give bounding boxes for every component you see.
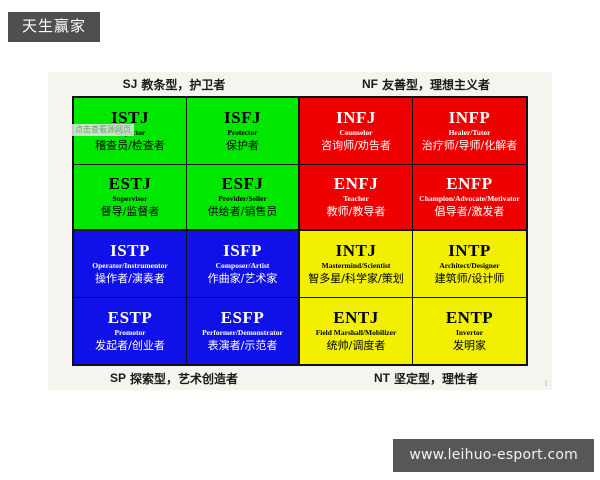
mbti-chinese-role: 建筑师/设计师 [435,273,505,285]
mbti-chinese-role: 督导/监督者 [101,206,160,218]
mbti-chinese-role: 智多星/科学家/策划 [308,273,403,285]
mbti-cell-isfj[interactable]: ISFJ Protector 保护者 [187,98,300,165]
quadrant-tag-sj: SJ [123,77,138,91]
mbti-chinese-role: 发明家 [453,340,486,352]
quadrant-label-nf: NF 友善型，理想主义者 [300,72,552,96]
mbti-cell-enfj[interactable]: ENFJ Teacher 教师/教导者 [300,165,413,232]
mbti-chart-figure: SJ 教条型，护卫者 NF 友善型，理想主义者 点击查看源网页 ISTJ Ins… [48,72,552,390]
mbti-cell-entj[interactable]: ENTJ Field Marshall/Mobilizer 统帅/调度者 [300,298,413,365]
mbti-english-role: Counselor [340,129,373,137]
quadrant-label-sp: SP 探索型，艺术创造者 [48,366,300,390]
quadrant-tag-nt: NT [374,371,390,385]
mbti-english-role: Healer/Tutor [449,129,491,137]
mbti-cell-istp[interactable]: ISTP Operator/Instrumentor 操作者/演奏者 [74,231,187,298]
quadrant-text-nf: 友善型，理想主义者 [382,76,490,93]
mbti-english-role: Performer/Demonstrator [202,329,283,337]
mbti-chinese-role: 保护者 [226,140,259,152]
source-page-hint[interactable]: 点击查看源网页 [72,124,134,136]
mbti-cell-infp[interactable]: INFP Healer/Tutor 治疗师/导师/化解者 [413,98,526,165]
quadrant-tag-nf: NF [362,77,378,91]
mbti-chinese-role: 作曲家/艺术家 [208,273,278,285]
mbti-cell-entp[interactable]: ENTP Invertor 发明家 [413,298,526,365]
mbti-code: ISTP [110,242,150,260]
mbti-code: ENTP [446,309,493,327]
quadrant-label-nt: NT 坚定型，理性者 [300,366,552,390]
mbti-chinese-role: 操作者/演奏者 [95,273,165,285]
mbti-code: ENFP [446,175,492,193]
mbti-code: ISFJ [224,109,261,127]
mbti-english-role: Operator/Instrumentor [92,262,167,270]
mbti-cell-enfp[interactable]: ENFP Champion/Advocate/Motivator 倡导者/激发者 [413,165,526,232]
mbti-chinese-role: 发起者/创业者 [95,340,165,352]
mbti-chinese-role: 统帅/调度者 [327,340,386,352]
mbti-english-role: Architect/Designer [439,262,499,270]
mbti-english-role: Supervisor [112,195,147,203]
site-watermark: www.leihuo-esport.com [393,439,594,472]
mbti-cell-infj[interactable]: INFJ Counselor 咨询师/劝告者 [300,98,413,165]
page-number-mark: 1 [544,379,548,388]
mbti-code: ESTP [108,309,153,327]
mbti-code: INTJ [336,242,377,260]
mbti-cell-estj[interactable]: ESTJ Supervisor 督导/监督者 [74,165,187,232]
mbti-cell-isfp[interactable]: ISFP Composer/Artist 作曲家/艺术家 [187,231,300,298]
mbti-code: ESFJ [222,175,264,193]
mbti-code: ENTJ [333,309,378,327]
mbti-english-role: Composer/Artist [216,262,270,270]
mbti-english-role: Promotor [114,329,145,337]
quadrant-text-sp: 探索型，艺术创造者 [130,370,238,387]
quadrant-text-nt: 坚定型，理性者 [394,370,478,387]
mbti-english-role: Provider/Seller [218,195,267,203]
mbti-code: ESTJ [109,175,152,193]
mbti-cell-estp[interactable]: ESTP Promotor 发起者/创业者 [74,298,187,365]
mbti-chinese-role: 咨询师/劝告者 [321,140,391,152]
mbti-code: ENFJ [334,175,379,193]
mbti-english-role: Champion/Advocate/Motivator [419,195,519,203]
mbti-chinese-role: 供给者/销售员 [208,206,278,218]
mbti-chinese-role: 倡导者/激发者 [435,206,505,218]
mbti-english-role: Teacher [343,195,369,203]
quadrant-label-sj: SJ 教条型，护卫者 [48,72,300,96]
site-badge: 天生赢家 [8,12,100,42]
mbti-english-role: Invertor [456,329,483,337]
mbti-code: ISFP [223,242,262,260]
mbti-english-role: Protector [227,129,257,137]
mbti-code: INTP [448,242,491,260]
mbti-chinese-role: 教师/教导者 [327,206,386,218]
mbti-cell-esfp[interactable]: ESFP Performer/Demonstrator 表演者/示范者 [187,298,300,365]
mbti-grid: 点击查看源网页 ISTJ Inspector 稽查员/检查者 ISFJ Prot… [72,96,528,366]
mbti-cell-intj[interactable]: INTJ Mastermind/Scientist 智多星/科学家/策划 [300,231,413,298]
mbti-code: INFP [449,109,491,127]
mbti-chinese-role: 稽查员/检查者 [95,140,165,152]
mbti-english-role: Field Marshall/Mobilizer [316,329,397,337]
mbti-code: INFJ [336,109,376,127]
mbti-chinese-role: 表演者/示范者 [208,340,278,352]
mbti-chinese-role: 治疗师/导师/化解者 [422,140,517,152]
top-quadrant-labels: SJ 教条型，护卫者 NF 友善型，理想主义者 [48,72,552,96]
bottom-quadrant-labels: SP 探索型，艺术创造者 NT 坚定型，理性者 [48,366,552,390]
quadrant-tag-sp: SP [110,371,126,385]
mbti-code: ESFP [221,309,265,327]
mbti-english-role: Mastermind/Scientist [322,262,391,270]
quadrant-text-sj: 教条型，护卫者 [141,76,225,93]
mbti-cell-esfj[interactable]: ESFJ Provider/Seller 供给者/销售员 [187,165,300,232]
mbti-cell-intp[interactable]: INTP Architect/Designer 建筑师/设计师 [413,231,526,298]
